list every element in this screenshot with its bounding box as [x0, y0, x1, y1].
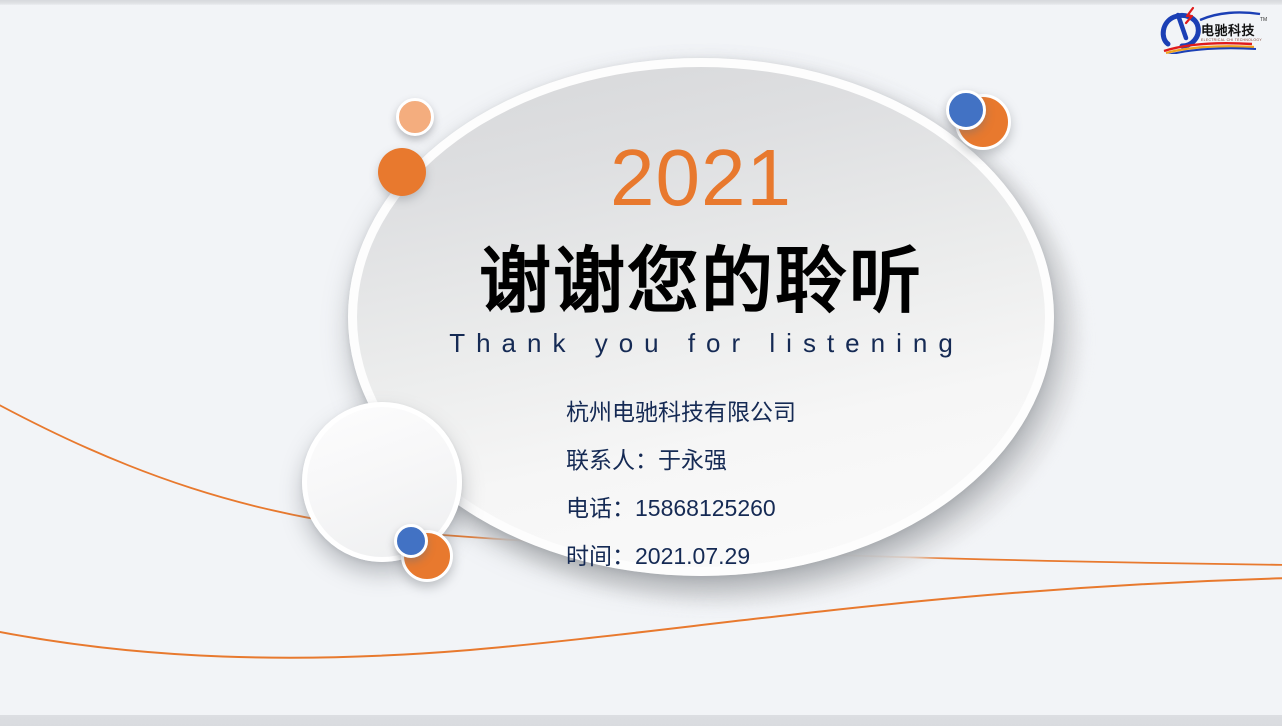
logo-brand-chinese: 电驰科技 — [1201, 23, 1256, 39]
window-chrome-bottom-edge — [0, 715, 1282, 726]
thank-you-subtitle-english: Thank you for listening — [348, 330, 1054, 356]
logo-trademark: TM — [1260, 17, 1267, 23]
presentation-slide: 2021 谢谢您的聆听 Thank you for listening 杭州电驰… — [0, 0, 1282, 726]
window-chrome-top-edge — [0, 0, 1282, 5]
contact-person: 联系人：于永强 — [566, 436, 1026, 484]
contact-info-block: 杭州电驰科技有限公司 联系人：于永强 电话：15868125260 时间：202… — [566, 388, 1026, 580]
contact-phone: 电话：15868125260 — [566, 484, 1026, 532]
slide-content: 2021 谢谢您的聆听 Thank you for listening 杭州电驰… — [348, 58, 1054, 576]
thank-you-title-chinese: 谢谢您的聆听 — [348, 246, 1054, 318]
logo-brand-english: ELECTRICAL CHI TECHNOLOGY — [1201, 38, 1262, 42]
contact-company: 杭州电驰科技有限公司 — [566, 388, 1026, 436]
contact-date: 时间：2021.07.29 — [566, 532, 1026, 580]
year-heading: 2021 — [348, 138, 1054, 218]
company-logo: 电驰科技 TM ELECTRICAL CHI TECHNOLOGY — [1156, 4, 1274, 54]
